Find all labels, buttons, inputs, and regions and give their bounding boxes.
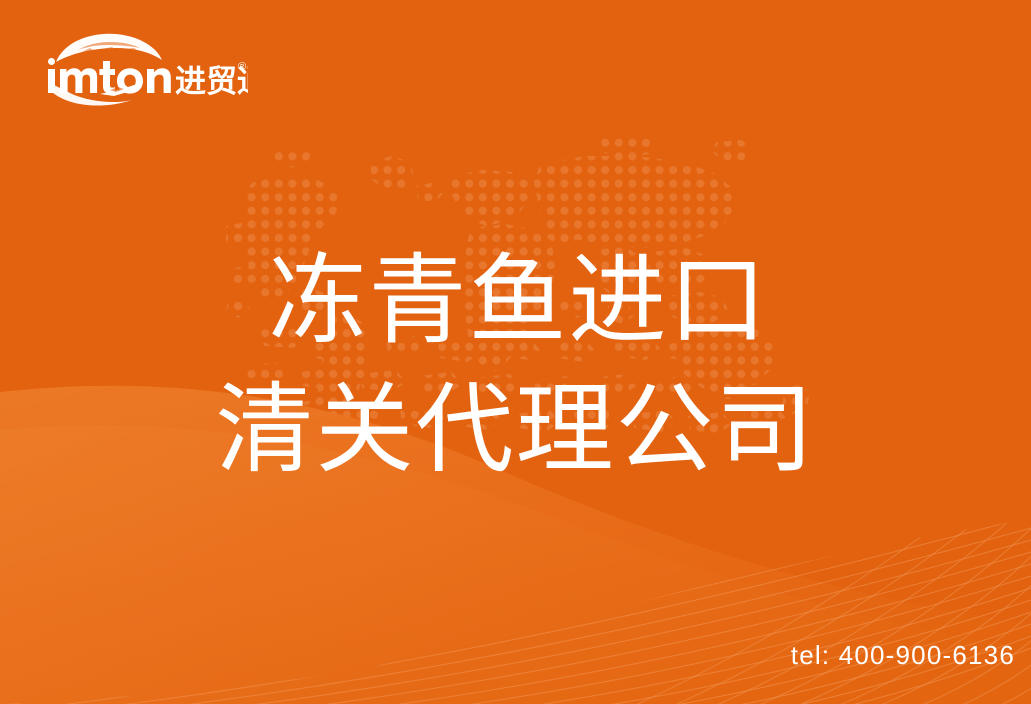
globe-arc-icon <box>56 34 162 62</box>
promo-banner: 进贸通 ® 冻青鱼进口 清关代理公司 tel: 400-900-6136 <box>0 0 1031 704</box>
contact-telephone: tel: 400-900-6136 <box>791 640 1015 671</box>
imton-logo[interactable]: 进贸通 ® <box>38 28 248 106</box>
page-title: 冻青鱼进口 清关代理公司 <box>0 236 1031 495</box>
imton-wordmark <box>48 58 171 94</box>
page-title-line-2: 清关代理公司 <box>0 365 1031 494</box>
page-title-line-1: 冻青鱼进口 <box>0 236 1031 365</box>
logo-trademark: ® <box>238 61 246 73</box>
